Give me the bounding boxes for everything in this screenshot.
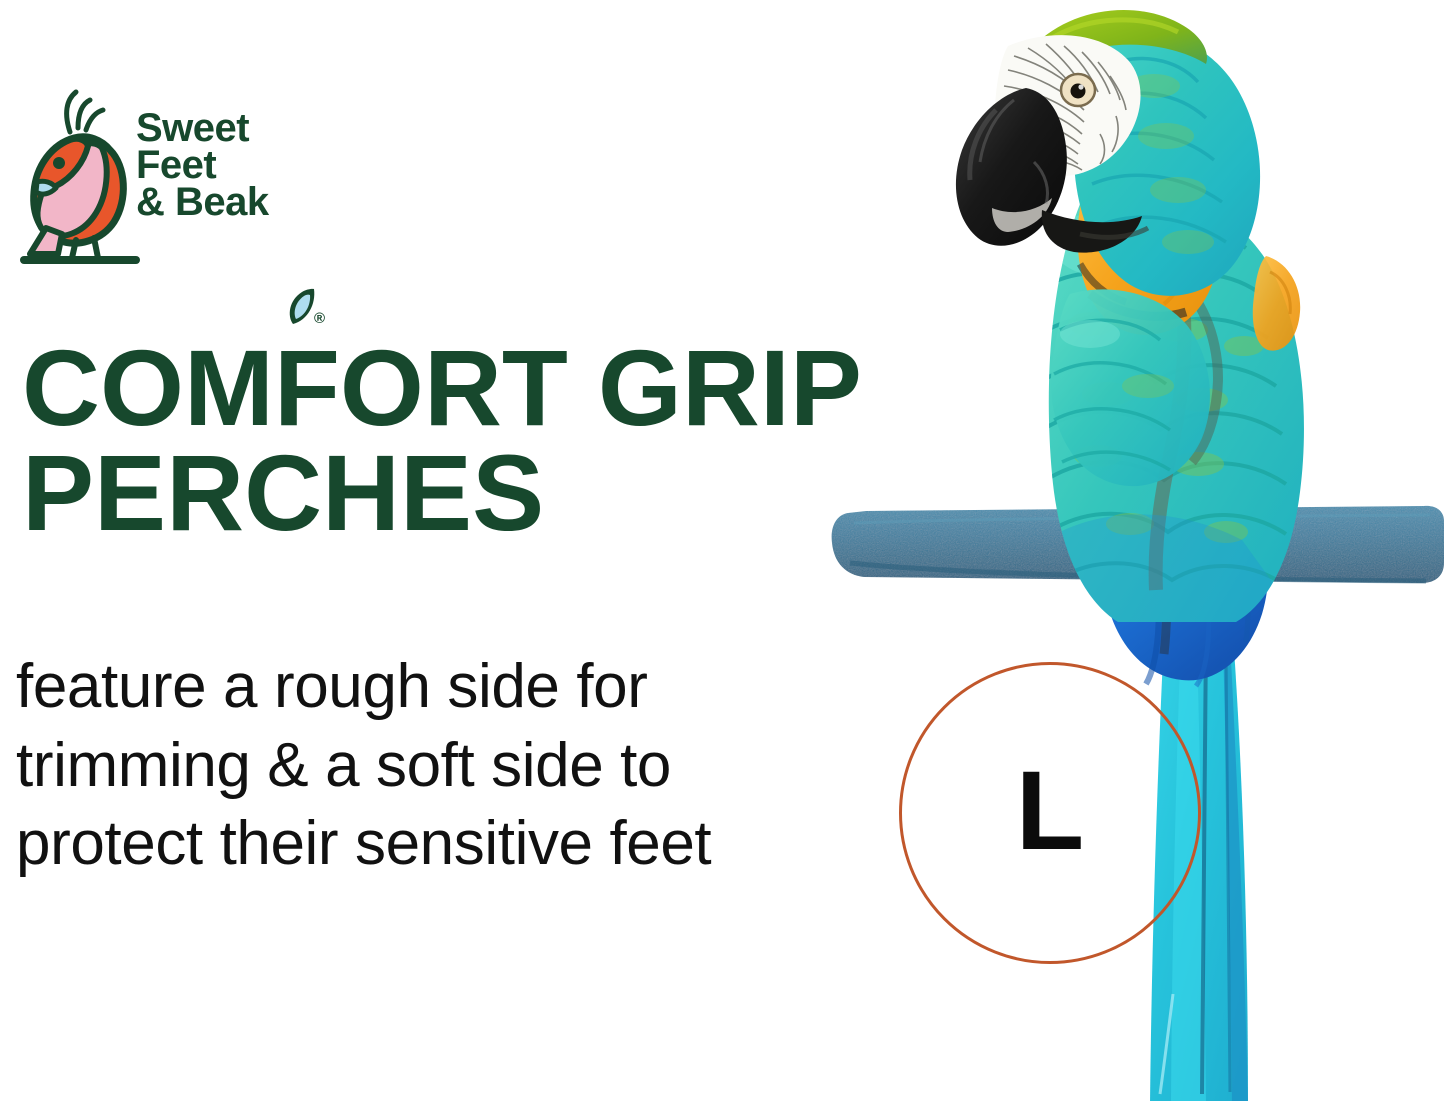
subcopy-line-3: protect their sensitive feet xyxy=(16,805,836,884)
brand-wordmark: Sweet Feet & Beak xyxy=(136,110,301,220)
brand-logo: Sweet Feet & Beak ® xyxy=(18,88,328,266)
subcopy-line-2: trimming & a soft side to xyxy=(16,727,836,806)
size-badge: L xyxy=(899,662,1201,964)
bird-logo-icon xyxy=(18,88,138,266)
headline-line-1: COMFORT GRIP xyxy=(22,336,1042,441)
product-description: feature a rough side for trimming & a so… xyxy=(16,648,836,884)
product-marketing-banner: Sweet Feet & Beak ® COMFORT GRIP PERCHES… xyxy=(0,0,1445,1101)
subcopy-line-1: feature a rough side for xyxy=(16,648,836,727)
size-badge-label: L xyxy=(902,665,1198,961)
wordmark-line-1: Sweet xyxy=(136,110,301,147)
macaw-head xyxy=(956,10,1260,296)
registered-trademark-symbol: ® xyxy=(314,310,325,327)
wordmark-line-3: & Beak xyxy=(136,184,301,221)
leaf-icon xyxy=(284,286,318,328)
wordmark-line-2: Feet xyxy=(136,147,301,184)
